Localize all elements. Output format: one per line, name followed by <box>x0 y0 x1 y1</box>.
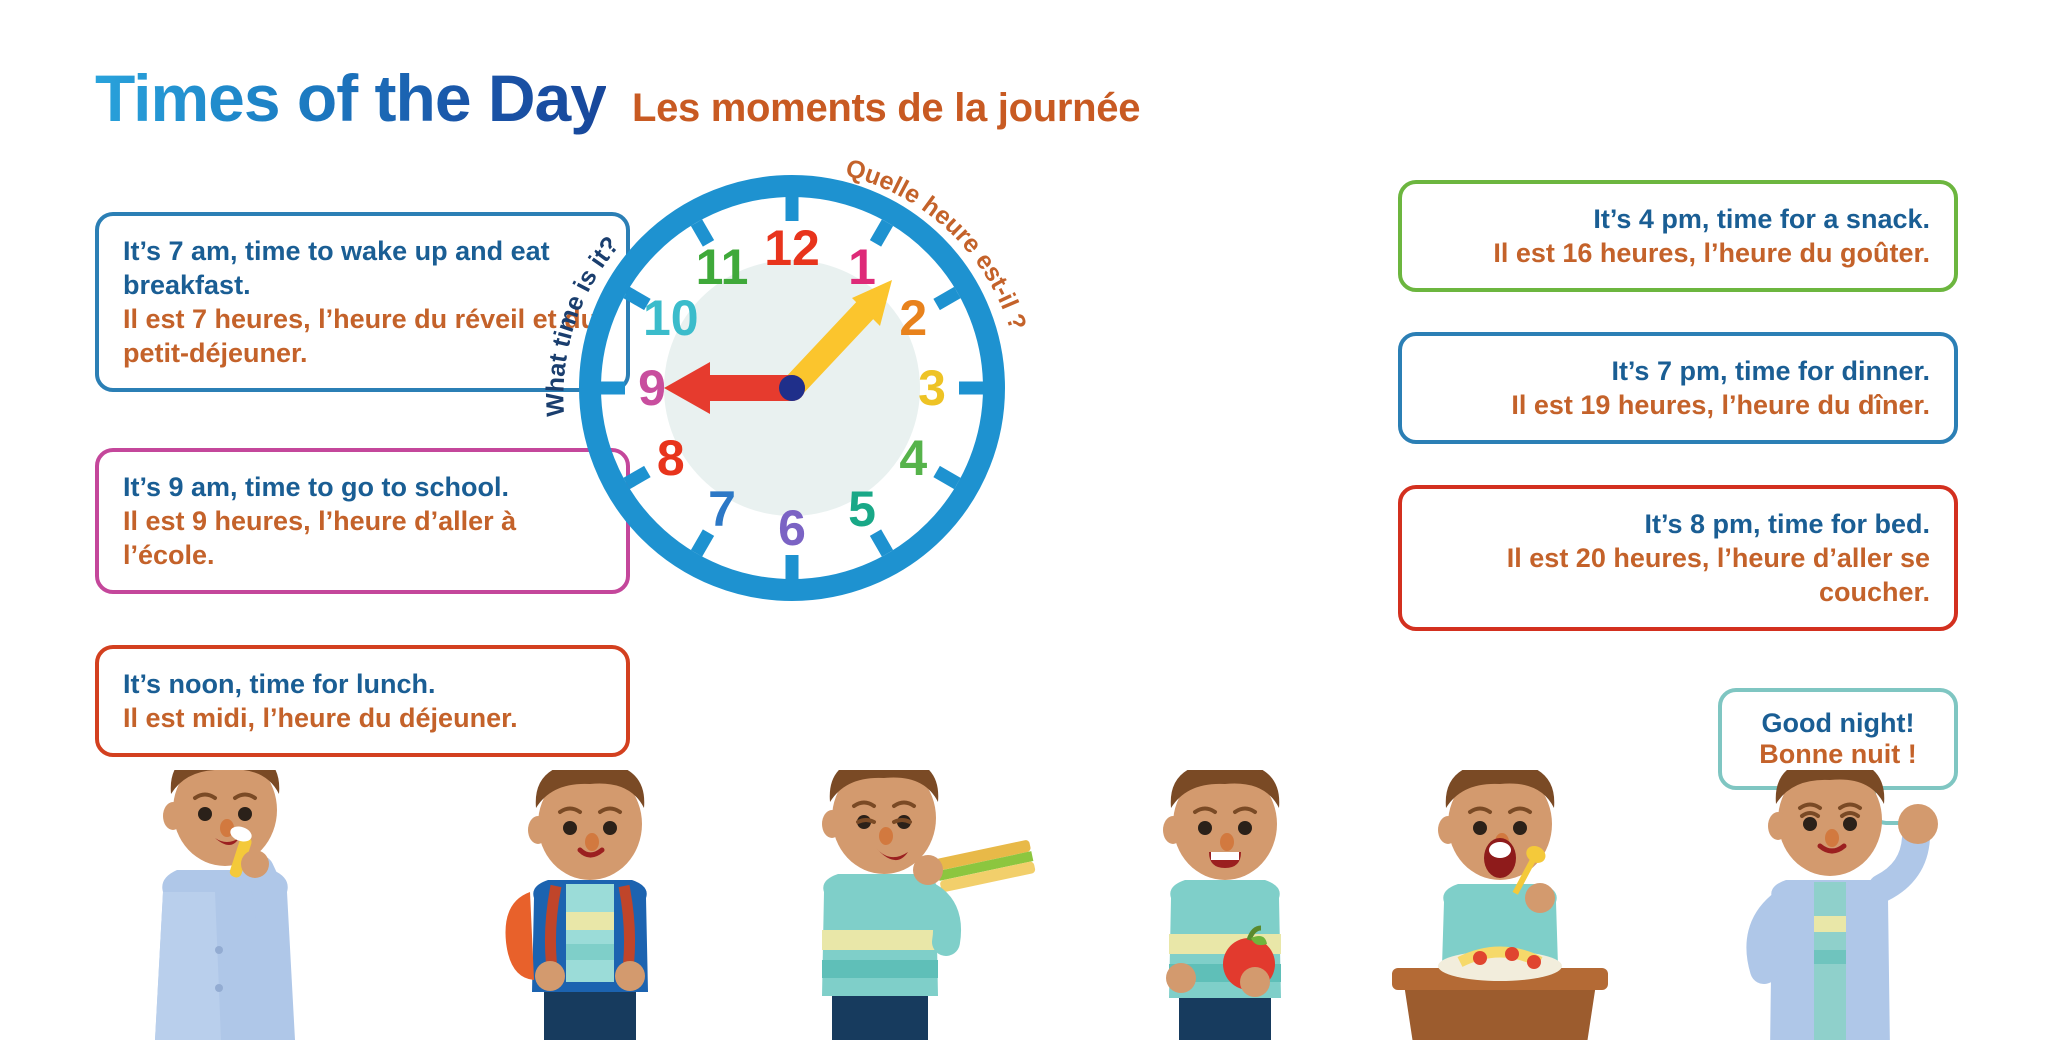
info-box-english: It’s 8 pm, time for bed. <box>1426 507 1930 541</box>
info-box-french: Il est 16 heures, l’heure du goûter. <box>1426 236 1930 270</box>
title-french: Les moments de la journée <box>632 86 1140 131</box>
kid-brushing-teeth <box>155 770 295 1040</box>
clock-number-8: 8 <box>657 429 685 487</box>
kid-waving-goodnight <box>1760 770 1938 1040</box>
kid-holding-apple <box>1163 770 1281 1040</box>
clock-number-12: 12 <box>764 219 820 277</box>
clock-number-9: 9 <box>638 359 666 417</box>
clock-number-2: 2 <box>899 289 927 347</box>
kid-eating-dinner <box>1392 770 1608 1040</box>
info-box-english: It’s 4 pm, time for a snack. <box>1426 202 1930 236</box>
kid-with-backpack <box>506 770 649 1040</box>
title-english: Times of the Day <box>95 60 606 136</box>
kids-illustration-row <box>0 770 2048 1040</box>
info-box-french: Il est 19 heures, l’heure du dîner. <box>1426 388 1930 422</box>
info-box-french: Il est 9 heures, l’heure d’aller à l’éco… <box>123 504 602 572</box>
info-box-french: Il est 20 heures, l’heure d’aller se cou… <box>1426 541 1930 609</box>
clock-number-6: 6 <box>778 499 806 557</box>
info-box-lunch: It’s noon, time for lunch. Il est midi, … <box>95 645 630 757</box>
clock-number-11: 11 <box>696 238 749 296</box>
analog-clock: What time is it? Quelle heure est-il ? 1… <box>552 148 1032 628</box>
info-box-english: It’s 9 am, time to go to school. <box>123 470 602 504</box>
clock-number-10: 10 <box>643 289 699 347</box>
info-box-english: It’s 7 am, time to wake up and eat break… <box>123 234 602 302</box>
bubble-english: Good night! <box>1744 708 1932 739</box>
info-box-english: It’s 7 pm, time for dinner. <box>1426 354 1930 388</box>
page-title: Times of the Day Les moments de la journ… <box>95 60 1140 136</box>
bubble-french: Bonne nuit ! <box>1744 739 1932 770</box>
clock-number-7: 7 <box>708 480 736 538</box>
clock-number-3: 3 <box>918 359 946 417</box>
info-box-bed: It’s 8 pm, time for bed. Il est 20 heure… <box>1398 485 1958 631</box>
clock-center-dot <box>779 375 805 401</box>
clock-number-5: 5 <box>848 480 876 538</box>
info-box-french: Il est 7 heures, l’heure du réveil et du… <box>123 302 602 370</box>
info-box-dinner: It’s 7 pm, time for dinner. Il est 19 he… <box>1398 332 1958 444</box>
clock-number-1: 1 <box>848 238 876 296</box>
kid-eating-sandwich <box>822 770 1036 1040</box>
info-box-school: It’s 9 am, time to go to school. Il est … <box>95 448 630 594</box>
clock-number-4: 4 <box>899 429 927 487</box>
info-box-french: Il est midi, l’heure du déjeuner. <box>123 701 602 735</box>
info-box-snack: It’s 4 pm, time for a snack. Il est 16 h… <box>1398 180 1958 292</box>
info-box-english: It’s noon, time for lunch. <box>123 667 602 701</box>
